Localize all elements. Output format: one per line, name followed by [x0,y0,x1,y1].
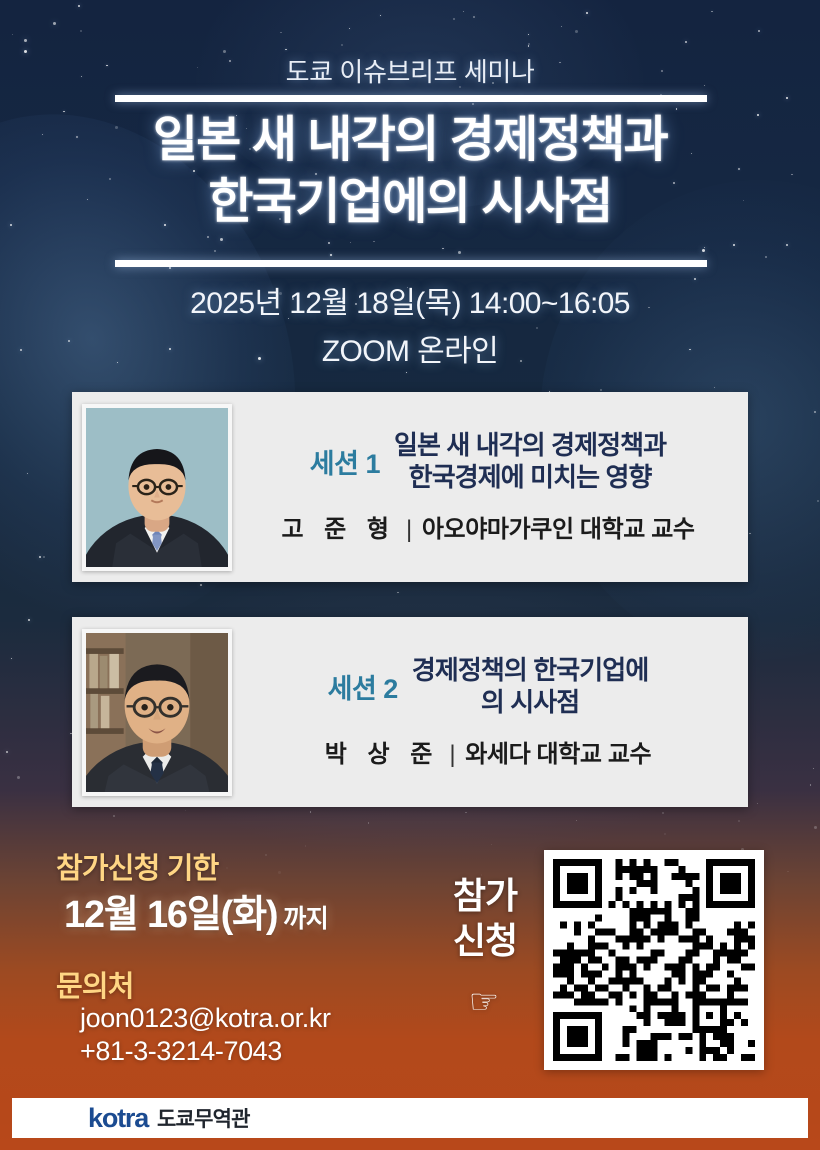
seminar-poster: 도쿄 이슈브리프 세미나 일본 새 내각의 경제정책과 한국기업에의 시사점 2… [0,0,820,1150]
session-1-body: 세션 1 일본 새 내각의 경제정책과 한국경제에 미치는 영향 고 준 형|아… [232,404,748,571]
deadline-date: 12월 16일(화) [64,894,277,936]
session-1-heading: 세션 1 일본 새 내각의 경제정책과 한국경제에 미치는 영향 [242,430,734,499]
contact-email[interactable]: joon0123@kotra.or.kr [80,1003,331,1034]
kotra-logo: kotra [88,1103,148,1134]
session-2-speaker-name: 박 상 준 [325,741,440,768]
session-1-title: 일본 새 내각의 경제정책과 한국경제에 미치는 영향 [394,430,666,493]
deadline-suffix: 까지 [277,905,328,933]
session-1-speaker-affiliation: 아오야마가쿠인 대학교 교수 [422,516,695,543]
apply-label: 참가 신청 [433,873,537,964]
registration-qr-code[interactable] [544,850,764,1070]
session-1-badge: 세션 1 [310,442,380,481]
session-2-title: 경제정책의 한국기업에 의 시사점 [412,655,649,718]
title-line-1: 일본 새 내각의 경제정책과 [0,110,820,172]
contact-phone[interactable]: +81-3-3214-7043 [80,1036,282,1067]
pointing-hand-icon: ☞ [449,985,519,1019]
session-2-body: 세션 2 경제정책의 한국기업에 의 시사점 박 상 준|와세다 대학교 교수 [232,629,748,796]
divider-bottom [115,260,707,267]
session-2-title-line-1: 경제정책의 한국기업에 [412,655,649,687]
footer-office: 도쿄무역관 [148,1103,250,1133]
poster-kicker: 도쿄 이슈브리프 세미나 [0,52,820,89]
session-2-title-line-2: 의 시사점 [412,687,649,719]
speaker-photo-2 [82,629,232,796]
session-1-speaker: 고 준 형|아오야마가쿠인 대학교 교수 [242,499,734,544]
session-2-heading: 세션 2 경제정책의 한국기업에 의 시사점 [242,655,734,724]
event-venue: ZOOM 온라인 [0,326,820,370]
session-2-speaker-affiliation: 와세다 대학교 교수 [465,741,651,768]
session-1-separator: | [396,516,422,543]
event-datetime: 2025년 12월 18일(목) 14:00~16:05 [0,278,820,322]
session-card-2: 세션 2 경제정책의 한국기업에 의 시사점 박 상 준|와세다 대학교 교수 [72,617,748,807]
session-2-badge: 세션 2 [328,667,398,706]
session-1-speaker-name: 고 준 형 [281,516,396,543]
speaker-photo-1 [82,404,232,571]
footer-bar: kotra 도쿄무역관 [12,1098,808,1138]
title-line-2: 한국기업에의 시사점 [0,172,820,234]
deadline-label: 참가신청 기한 [56,845,219,887]
divider-top [115,95,707,102]
session-2-speaker: 박 상 준|와세다 대학교 교수 [242,724,734,769]
session-1-title-line-1: 일본 새 내각의 경제정책과 [394,430,666,462]
session-card-1: 세션 1 일본 새 내각의 경제정책과 한국경제에 미치는 영향 고 준 형|아… [72,392,748,582]
contact-label: 문의처 [56,963,134,1005]
session-2-separator: | [439,741,465,768]
deadline-value: 12월 16일(화)까지 [64,883,328,938]
session-1-title-line-2: 한국경제에 미치는 영향 [394,462,666,494]
page-title: 일본 새 내각의 경제정책과 한국기업에의 시사점 [0,110,820,233]
